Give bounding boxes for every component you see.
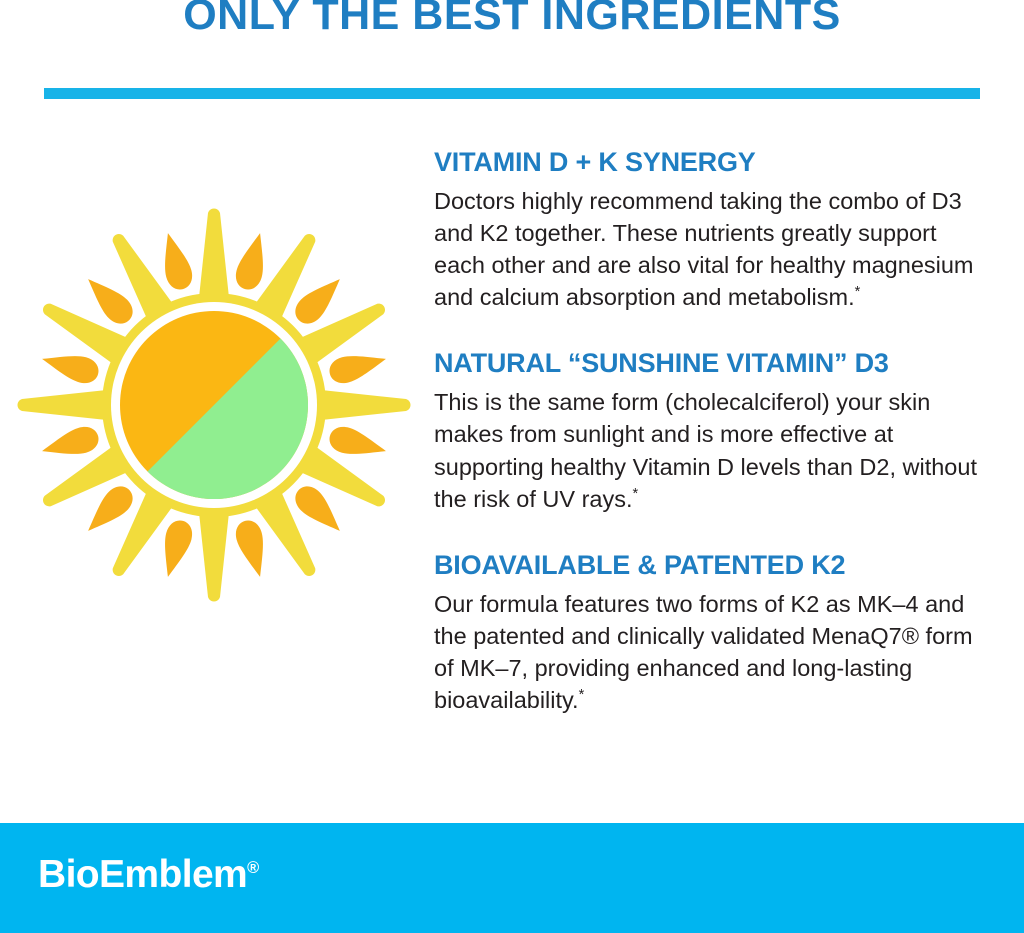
sun-icon xyxy=(8,205,420,605)
feature-list: VITAMIN D + K SYNERGY Doctors highly rec… xyxy=(434,148,982,716)
feature-item: VITAMIN D + K SYNERGY Doctors highly rec… xyxy=(434,148,982,313)
feature-body-text: This is the same form (cholecalciferol) … xyxy=(434,389,977,512)
feature-heading-natural-sunshine-vitamin-d3: NATURAL “SUNSHINE VITAMIN” D3 xyxy=(434,349,982,379)
brand-logo: BioEmblem® xyxy=(38,853,259,897)
brand-name: BioEmblem xyxy=(38,853,247,896)
feature-heading-bioavailable-patented-k2: BIOAVAILABLE & PATENTED K2 xyxy=(434,551,982,581)
sun-illustration xyxy=(8,205,420,605)
feature-body-text: Doctors highly recommend taking the comb… xyxy=(434,188,974,311)
page-footer: BioEmblem® xyxy=(0,823,1024,933)
main-content: VITAMIN D + K SYNERGY Doctors highly rec… xyxy=(0,110,1024,823)
footnote-asterisk: * xyxy=(855,284,861,300)
sun-outer-rays xyxy=(18,209,411,602)
registered-trademark-icon: ® xyxy=(247,859,258,877)
feature-body-text: Our formula features two forms of K2 as … xyxy=(434,591,973,714)
page-title: ONLY THE BEST INGREDIENTS xyxy=(0,0,1024,40)
feature-body: This is the same form (cholecalciferol) … xyxy=(434,386,982,515)
feature-body: Doctors highly recommend taking the comb… xyxy=(434,185,982,314)
footnote-asterisk: * xyxy=(633,486,639,502)
feature-item: NATURAL “SUNSHINE VITAMIN” D3 This is th… xyxy=(434,349,982,514)
header-divider-rule xyxy=(44,88,980,99)
feature-item: BIOAVAILABLE & PATENTED K2 Our formula f… xyxy=(434,551,982,716)
feature-heading-vitamin-d-k-synergy: VITAMIN D + K SYNERGY xyxy=(434,148,982,178)
footnote-asterisk: * xyxy=(579,687,585,703)
feature-body: Our formula features two forms of K2 as … xyxy=(434,588,982,717)
page-header: ONLY THE BEST INGREDIENTS xyxy=(0,0,1024,110)
